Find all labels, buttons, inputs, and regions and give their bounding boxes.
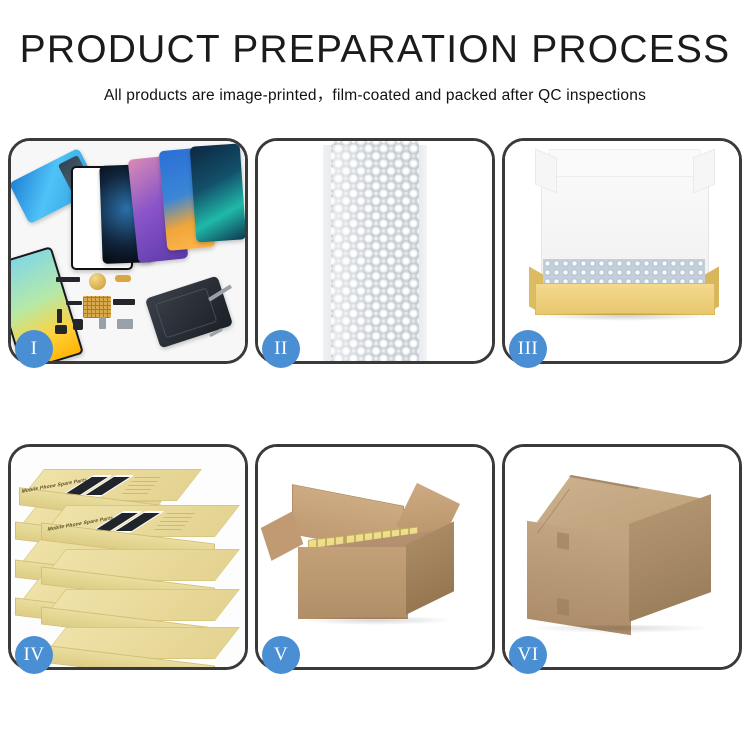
small-part-icon (55, 325, 67, 334)
page-title: PRODUCT PREPARATION PROCESS (0, 30, 750, 71)
phone-parts-illustration (11, 141, 245, 361)
step-image-1 (11, 141, 245, 361)
sealed-carton-illustration (505, 447, 739, 667)
step-image-4: Mobile Phone Spare Parts (11, 447, 245, 667)
box-print-line (125, 489, 152, 490)
box-print-line (166, 513, 195, 514)
step-panel-2: II (255, 138, 495, 364)
page-subtitle: All products are image-printed，film-coat… (0, 83, 750, 105)
carton-shadow (298, 617, 454, 625)
step-panel-4: Mobile Phone Spare Parts (8, 444, 248, 670)
step-image-5 (258, 447, 492, 667)
bubble-wrap-fill (543, 259, 705, 285)
inner-box-front-panel (535, 283, 715, 315)
box-print-line (131, 481, 158, 482)
step-badge-5: V (262, 636, 300, 674)
stacked-boxes-illustration: Mobile Phone Spare Parts (11, 447, 245, 667)
step-panel-1: I (8, 138, 248, 364)
step-panel-3: III (502, 138, 742, 364)
box-print-line (160, 521, 189, 522)
battery-part-icon (117, 319, 133, 329)
carton-front-face (298, 547, 408, 619)
box-shadow (539, 313, 711, 321)
step-badge-6: VI (509, 636, 547, 674)
phone-back-plate-icon (145, 276, 233, 349)
small-part-icon (57, 309, 62, 323)
gold-connector-icon (115, 275, 131, 282)
sealed-carton-front-face (527, 521, 631, 635)
box-print-line (121, 493, 148, 494)
camera-module-icon (73, 319, 83, 330)
step-badge-4: IV (15, 636, 53, 674)
step-image-3 (505, 141, 739, 361)
process-steps-grid: I II (8, 138, 742, 670)
box-print-line (128, 485, 155, 486)
speaker-part-icon (89, 273, 106, 290)
step-image-2 (258, 141, 492, 361)
carton-tape-top (557, 532, 569, 550)
page-header: PRODUCT PREPARATION PROCESS All products… (0, 0, 750, 105)
box-print-line (157, 525, 186, 526)
step-badge-1: I (15, 330, 53, 368)
flex-cable-part-icon (56, 277, 80, 282)
step-badge-3: III (509, 330, 547, 368)
box-print-line (163, 517, 192, 518)
step-panel-6: VI (502, 444, 742, 670)
open-carton-illustration (258, 447, 492, 667)
inner-box-lid (549, 149, 701, 177)
inner-box-right-flap (693, 149, 715, 194)
step-image-6 (505, 447, 739, 667)
small-part-icon (66, 301, 82, 305)
bubble-wrap-illustration (258, 141, 492, 361)
box-stack: Mobile Phone Spare Parts (13, 461, 245, 665)
step-panel-5: V (255, 444, 495, 670)
box-print-line (134, 477, 161, 478)
teal-phone-icon (190, 143, 245, 242)
white-inner-box-illustration (505, 141, 739, 361)
product-preparation-process-page: PRODUCT PREPARATION PROCESS All products… (0, 0, 750, 750)
carton-shadow (531, 625, 709, 633)
connector-strip-icon (113, 299, 135, 305)
ic-chip-icon (83, 296, 111, 318)
bubble-wrap-bag (323, 145, 427, 361)
carton-tape-bottom (557, 598, 569, 616)
inner-box-left-flap (535, 149, 557, 194)
box-print-line (153, 529, 182, 530)
metal-part-icon (99, 317, 106, 329)
bubble-pattern (331, 141, 419, 361)
step-badge-2: II (262, 330, 300, 368)
